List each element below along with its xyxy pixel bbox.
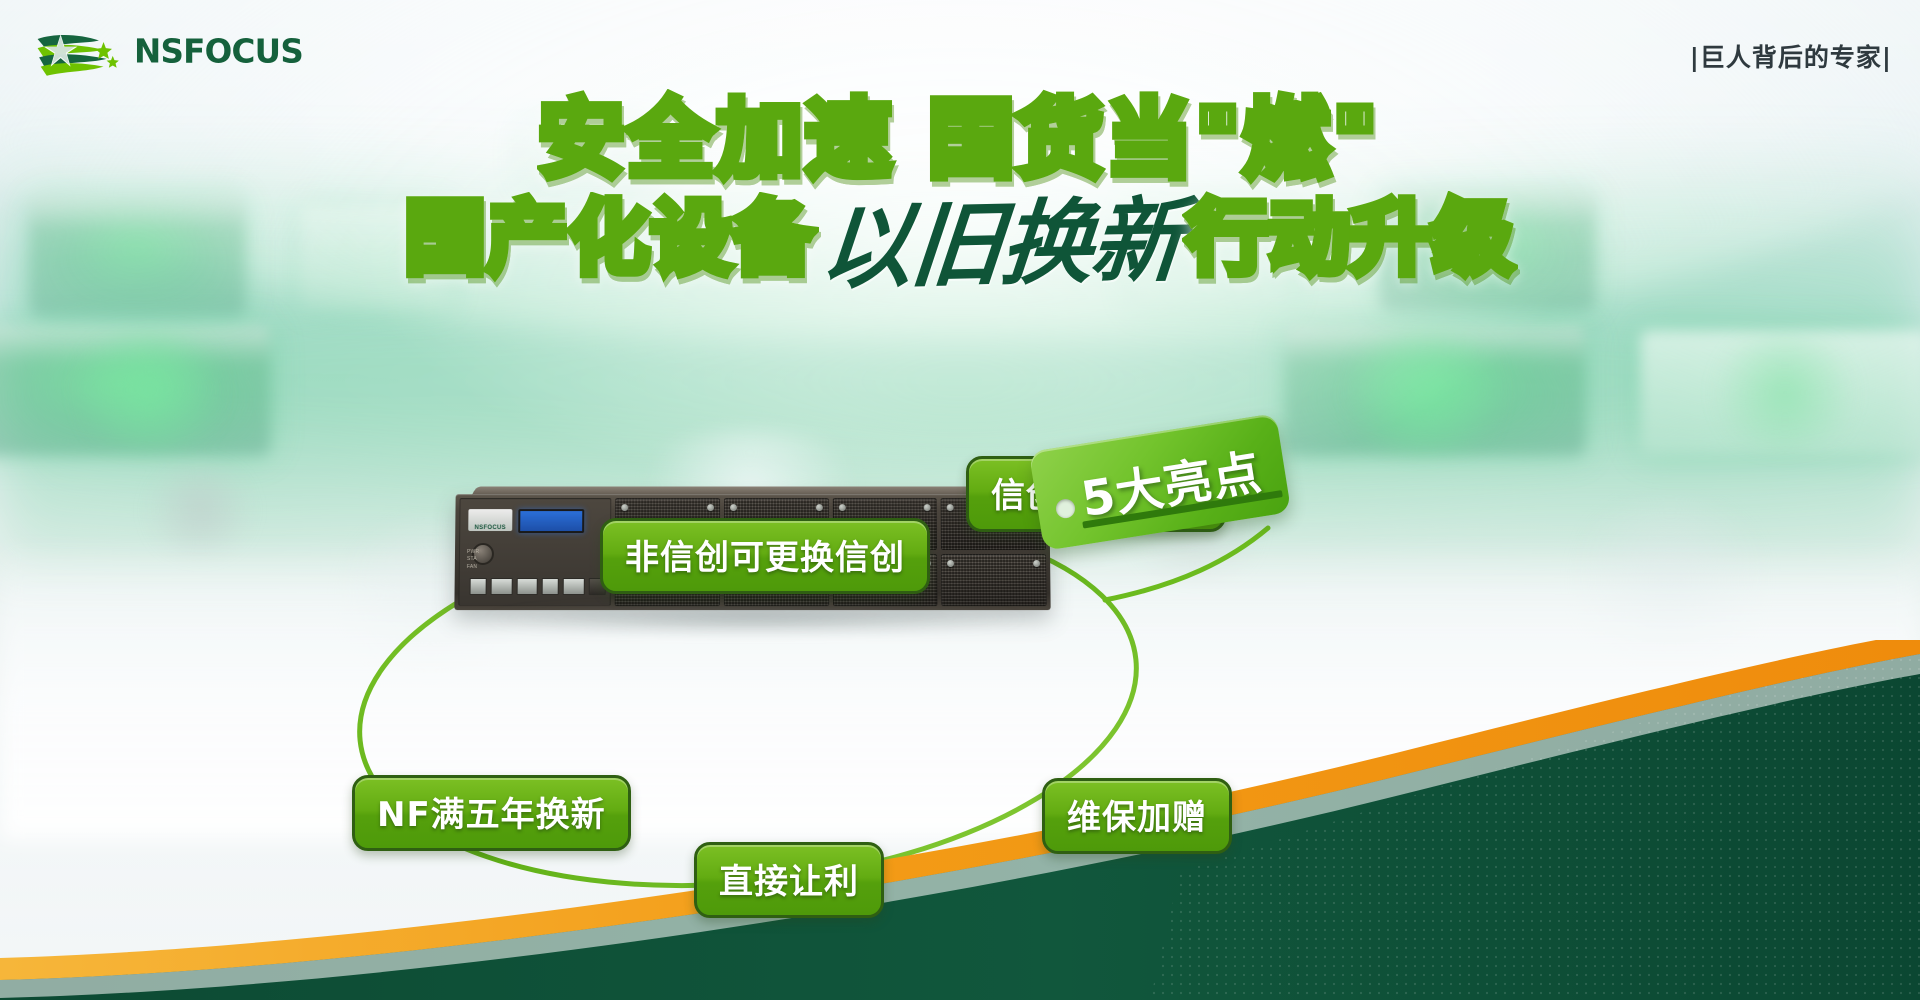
server-port xyxy=(516,578,538,595)
headline-block: 安全加速 国货当"燃" 国产化设备以旧换新行动升级 xyxy=(0,96,1920,294)
badge-label: 非信创可更换信创 xyxy=(625,530,905,579)
server-led-labels: PWRSTAFAN xyxy=(467,549,480,571)
nsfocus-wordmark: NSFOCUS xyxy=(134,35,356,69)
headline-line-1-text: 安全加速 国货当"燃" xyxy=(539,91,1381,190)
badge-maintenance-bonus[interactable]: 维保加赠 xyxy=(1042,778,1232,854)
banner-stage: NSFOCUS |巨人背后的专家| 安全加速 国货当"燃" 国产化设备以旧换新行… xyxy=(0,0,1920,1000)
nsfocus-flag-logo-icon xyxy=(33,28,125,76)
header-tagline: |巨人背后的专家| xyxy=(1690,38,1892,74)
badge-direct-discount[interactable]: 直接让利 xyxy=(694,842,884,918)
headline-line-2-prefix: 国产化设备 xyxy=(405,192,815,285)
badge-nf-five-year-renewal[interactable]: NF满五年换新 xyxy=(352,775,631,851)
server-port xyxy=(470,578,487,595)
server-port xyxy=(490,578,512,595)
server-shadow xyxy=(484,608,1026,634)
badge-replace-with-xinchuang[interactable]: 非信创可更换信创 xyxy=(600,518,930,594)
server-port xyxy=(563,578,585,595)
headline-calligraphy: 以旧换新 xyxy=(817,192,1186,297)
server-port-row xyxy=(465,573,609,599)
bottom-decorative-swoosh xyxy=(0,640,1920,1000)
brand-logo[interactable]: NSFOCUS xyxy=(33,28,356,76)
svg-text:NSFOCUS: NSFOCUS xyxy=(134,35,303,69)
server-port xyxy=(542,578,559,595)
headline-line-2-suffix: 行动升级 xyxy=(1187,192,1515,285)
headline-line-2: 国产化设备以旧换新行动升级 xyxy=(0,196,1920,294)
badge-label: 直接让利 xyxy=(719,854,859,903)
server-control-panel: NSFOCUS PWRSTAFAN xyxy=(458,498,611,606)
badge-label: NF满五年换新 xyxy=(377,787,606,836)
server-front-logo: NSFOCUS xyxy=(468,509,512,531)
headline-line-1: 安全加速 国货当"燃" xyxy=(0,96,1920,186)
server-drive-bay xyxy=(941,554,1046,606)
badge-label: 维保加赠 xyxy=(1067,790,1207,839)
server-lcd-screen xyxy=(518,509,584,533)
